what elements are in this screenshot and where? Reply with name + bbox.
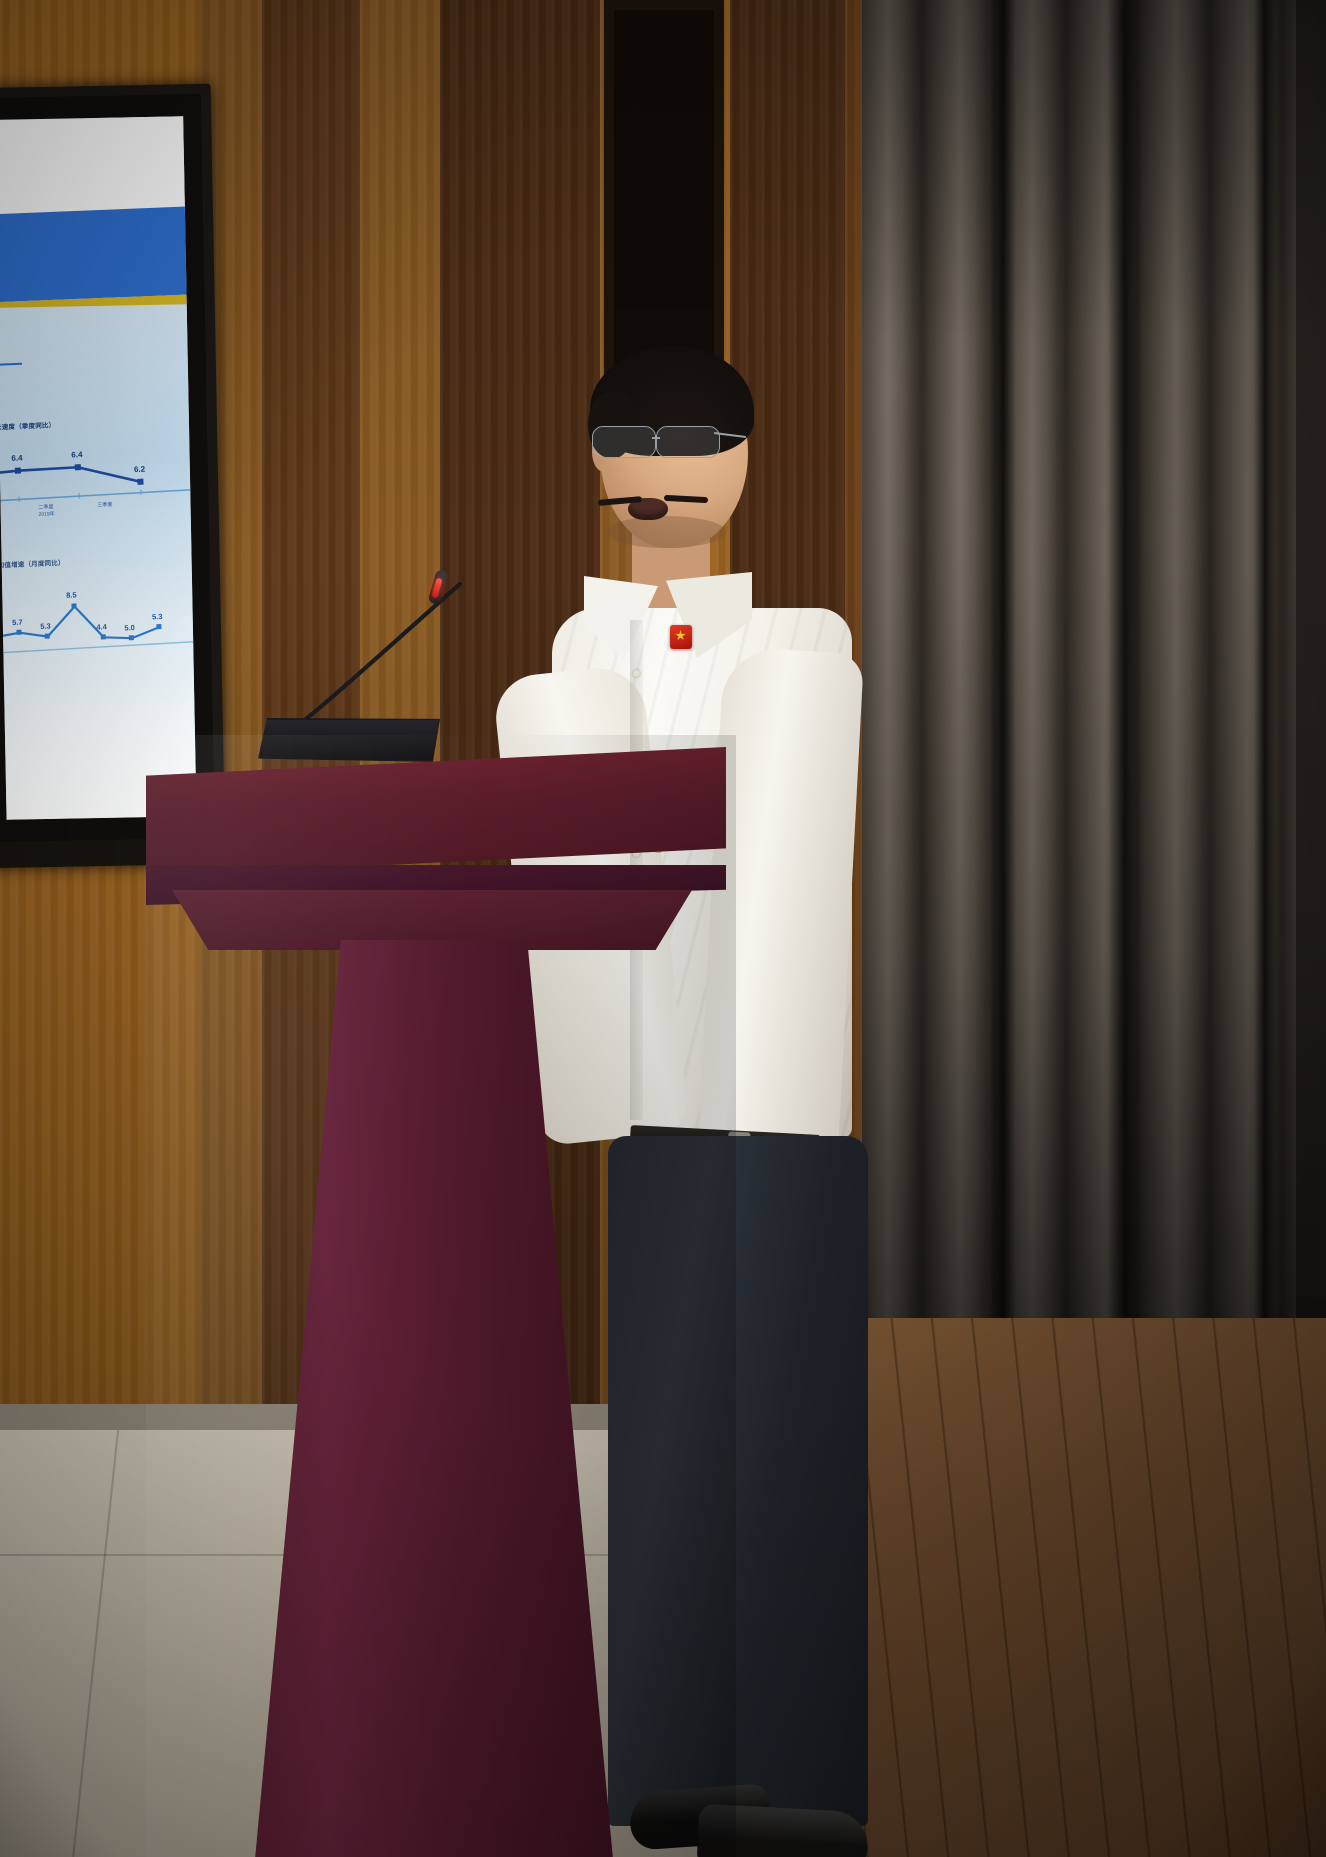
chart-quarterly-gdp: 国内生产总值增长速度（季度同比） 6.4 6.4 6.2 一季度 [0, 413, 197, 521]
shirt-button [633, 670, 640, 677]
chart-1-plot: 6.4 6.4 6.2 [0, 423, 197, 507]
svg-text:5.0: 5.0 [124, 623, 135, 632]
slide-screen: GDP 国内生产总值增长速度（季度同比） 6.4 6.4 6.2 [0, 116, 197, 820]
photo-scene: GDP 国内生产总值增长速度（季度同比） 6.4 6.4 6.2 [0, 0, 1326, 1857]
glasses-lens [656, 426, 720, 458]
eyeglasses-icon [590, 426, 740, 460]
podium-column [212, 940, 656, 1857]
svg-text:5.7: 5.7 [12, 618, 23, 627]
glasses-bridge [652, 437, 660, 439]
slide-header-band [0, 204, 197, 304]
podium [146, 735, 736, 1857]
svg-text:6.4: 6.4 [11, 453, 23, 462]
svg-text:6.2: 6.2 [134, 465, 146, 474]
slide-header-white [0, 116, 197, 216]
svg-text:5.3: 5.3 [40, 621, 51, 630]
chart-monthly-industry: 规模以上工业增加值增速（月度同比） 5.9 [0, 551, 197, 657]
chin-shadow [606, 516, 726, 548]
svg-text:4.4: 4.4 [96, 622, 108, 631]
podium-top [146, 747, 726, 877]
svg-text:8.5: 8.5 [66, 590, 77, 599]
svg-text:6.4: 6.4 [71, 450, 83, 459]
glasses-lens [592, 426, 656, 458]
chart-2-plot: 5.9 5.4 5.7 5.3 8.5 4.4 5.0 5.3 [0, 561, 197, 657]
svg-text:5.3: 5.3 [152, 612, 163, 621]
lapel-pin-icon [670, 625, 692, 649]
